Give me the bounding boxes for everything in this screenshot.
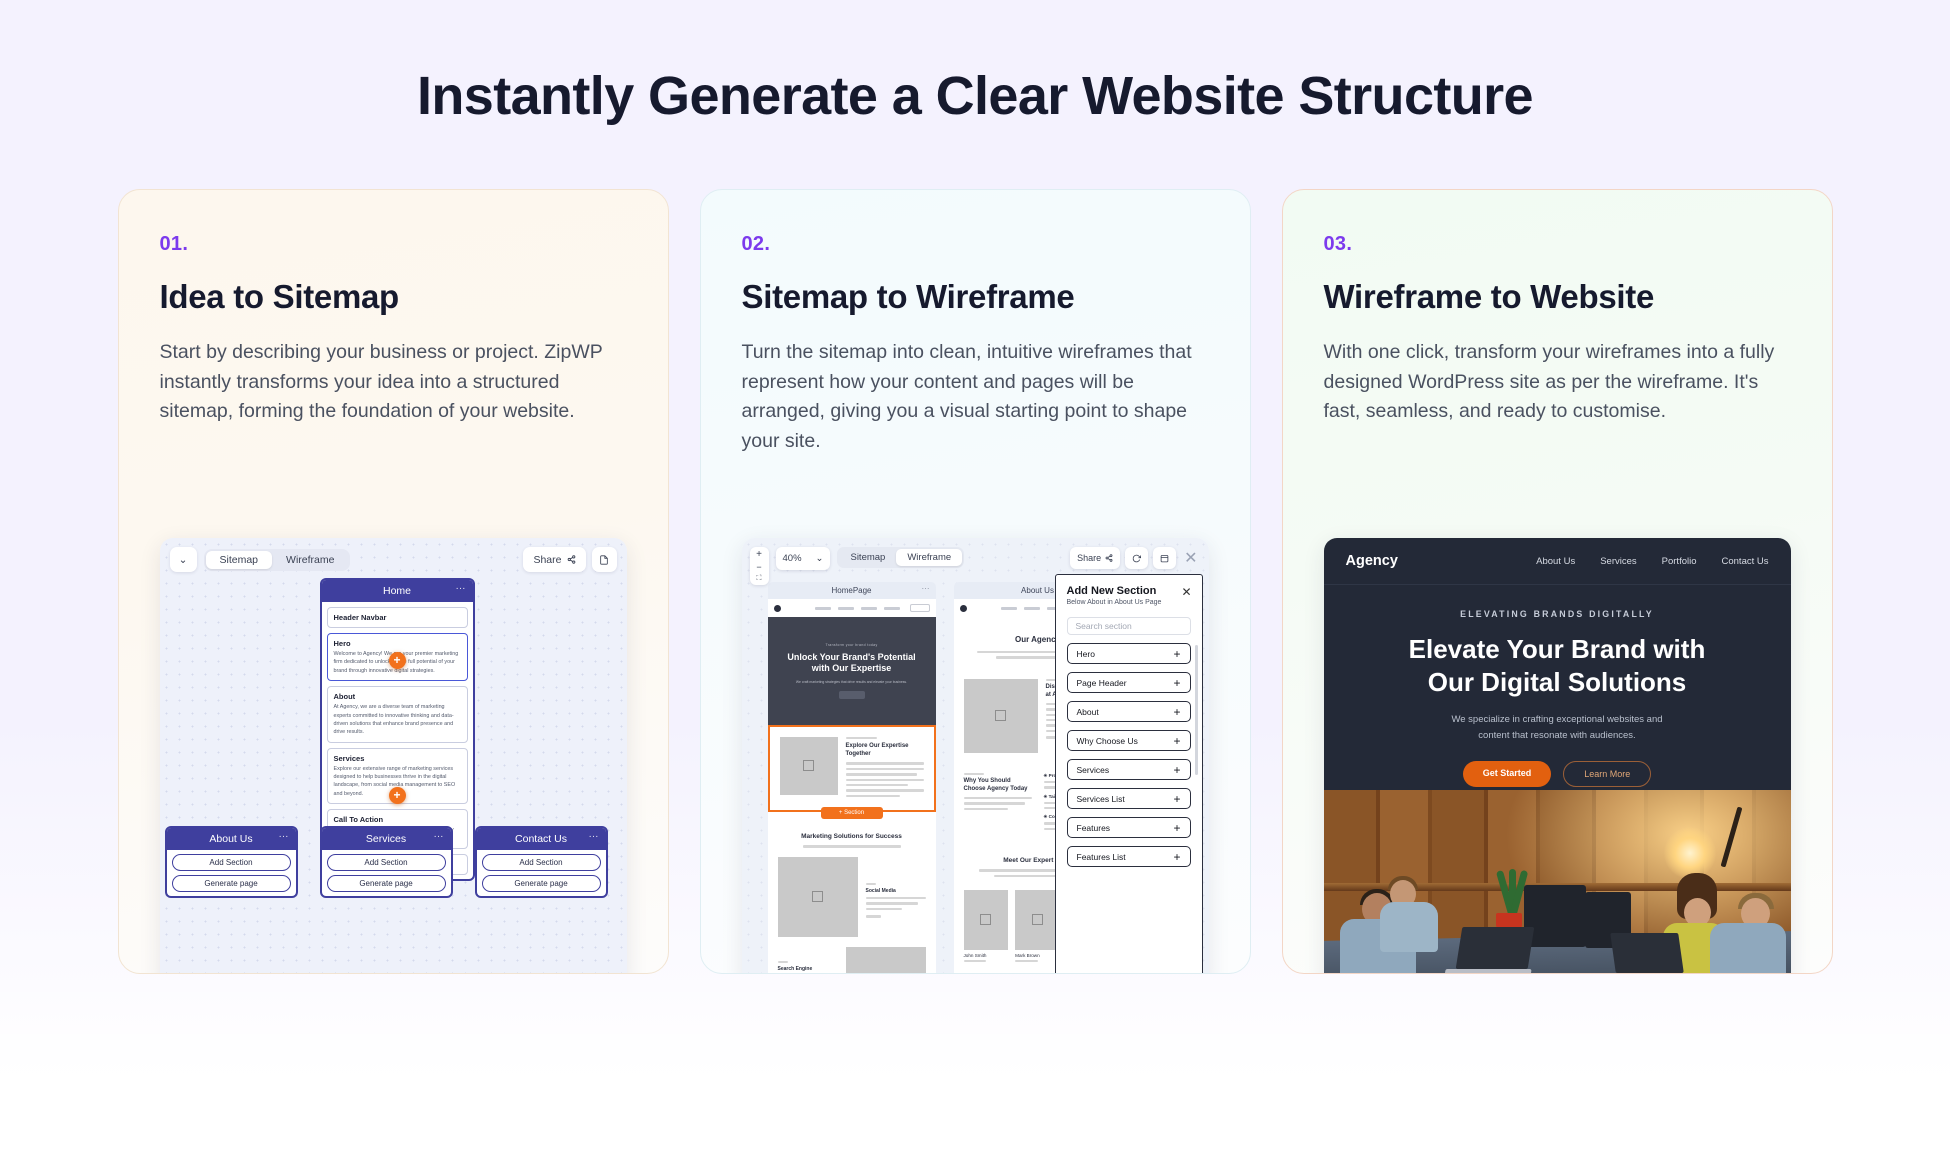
zoom-level-select[interactable]: 40% ⌄ bbox=[776, 547, 831, 570]
section-item-page-header[interactable]: Page Header+ bbox=[1067, 672, 1191, 693]
page-bottom-fade bbox=[0, 978, 1950, 1158]
save-button[interactable] bbox=[1153, 547, 1176, 569]
website-nav-links[interactable]: About Us Services Portfolio Contact Us bbox=[1536, 556, 1768, 567]
card-number: 03. bbox=[1324, 233, 1791, 256]
section-item-services[interactable]: Services+ bbox=[1067, 759, 1191, 780]
node-menu-icon[interactable]: ··· bbox=[589, 831, 599, 842]
hero-headline: Elevate Your Brand with Our Digital Solu… bbox=[1354, 633, 1761, 699]
chevron-down-icon: ⌄ bbox=[816, 553, 824, 564]
logo-icon bbox=[774, 605, 781, 612]
card-number: 01. bbox=[160, 233, 627, 256]
section-item-about[interactable]: About+ bbox=[1067, 701, 1191, 722]
generate-page-button[interactable]: Generate page bbox=[482, 875, 601, 892]
document-icon bbox=[599, 555, 609, 565]
close-icon[interactable]: ✕ bbox=[1181, 585, 1191, 599]
node-menu-icon[interactable]: ··· bbox=[279, 831, 289, 842]
plus-icon: + bbox=[1173, 677, 1180, 689]
section-item-hero[interactable]: Hero+ bbox=[1067, 643, 1191, 664]
sitemap-toolbar: ⌄ Sitemap Wireframe Share bbox=[170, 547, 617, 572]
image-placeholder-icon bbox=[780, 737, 838, 795]
hero-subtext: We specialize in crafting exceptional we… bbox=[1354, 712, 1761, 745]
export-page-button[interactable] bbox=[592, 547, 617, 572]
tab-sitemap[interactable]: Sitemap bbox=[839, 549, 896, 566]
plus-icon: + bbox=[1173, 735, 1180, 747]
share-button[interactable]: Share bbox=[523, 547, 585, 572]
image-placeholder-icon bbox=[964, 890, 1009, 950]
tab-wireframe[interactable]: Wireframe bbox=[272, 551, 348, 569]
sitemap-node-title: Home ··· bbox=[322, 580, 473, 602]
add-section-plus-icon[interactable]: + bbox=[389, 652, 406, 669]
plus-icon: + bbox=[1173, 822, 1180, 834]
share-label: Share bbox=[1077, 553, 1101, 563]
hero-photo bbox=[1324, 790, 1791, 974]
add-section-button[interactable]: Add Section bbox=[327, 854, 446, 871]
fit-screen-icon[interactable]: ⛶ bbox=[757, 575, 762, 582]
feature-card-wireframe-to-website: 03. Wireframe to Website With one click,… bbox=[1282, 189, 1833, 974]
nav-link-services[interactable]: Services bbox=[1600, 556, 1636, 567]
refresh-button[interactable] bbox=[1125, 547, 1148, 569]
zoom-controls[interactable]: + − ⛶ bbox=[750, 547, 769, 585]
card-heading: Idea to Sitemap bbox=[160, 278, 627, 316]
card-description: With one click, transform your wireframe… bbox=[1324, 338, 1779, 427]
plus-icon: + bbox=[1173, 706, 1180, 718]
share-label: Share bbox=[533, 554, 561, 566]
nav-link-contact-us[interactable]: Contact Us bbox=[1722, 556, 1769, 567]
image-placeholder-icon bbox=[1015, 890, 1060, 950]
image-placeholder-icon bbox=[846, 947, 926, 974]
nav-placeholder-links bbox=[815, 607, 900, 610]
learn-more-button[interactable]: Learn More bbox=[1563, 761, 1651, 787]
wireframe-page-homepage[interactable]: Transform your brand today Unlock Your B… bbox=[768, 599, 936, 974]
sitemap-node-about-us[interactable]: About Us ··· Add Section Generate page bbox=[165, 826, 298, 898]
plant-decoration bbox=[1492, 871, 1526, 929]
sitemap-node-services[interactable]: Services ··· Add Section Generate page bbox=[320, 826, 453, 898]
website-navbar: Agency About Us Services Portfolio Conta… bbox=[1324, 538, 1791, 585]
wireframe-selected-section[interactable]: Explore Our Expertise Together bbox=[768, 725, 936, 813]
node-menu-icon[interactable]: ··· bbox=[434, 831, 444, 842]
generate-page-button[interactable]: Generate page bbox=[172, 875, 291, 892]
nav-link-about-us[interactable]: About Us bbox=[1536, 556, 1575, 567]
image-placeholder-icon bbox=[778, 857, 858, 937]
section-item-features[interactable]: Features+ bbox=[1067, 817, 1191, 838]
zoom-level-value: 40% bbox=[783, 553, 802, 564]
sitemap-section-header-navbar[interactable]: Header Navbar bbox=[327, 607, 468, 628]
nav-link-portfolio[interactable]: Portfolio bbox=[1662, 556, 1697, 567]
zoom-out-icon[interactable]: − bbox=[756, 563, 761, 572]
plus-icon: + bbox=[1173, 793, 1180, 805]
sitemap-screenshot: ⌄ Sitemap Wireframe Share bbox=[160, 538, 627, 974]
feature-card-sitemap-to-wireframe: 02. Sitemap to Wireframe Turn the sitema… bbox=[700, 189, 1251, 974]
card-description: Turn the sitemap into clean, intuitive w… bbox=[742, 338, 1197, 457]
website-hero: ELEVATING BRANDS DIGITALLY Elevate Your … bbox=[1324, 585, 1791, 809]
card-heading: Sitemap to Wireframe bbox=[742, 278, 1209, 316]
panel-subtitle: Below About in About Us Page bbox=[1067, 599, 1191, 606]
website-screenshot: Agency About Us Services Portfolio Conta… bbox=[1324, 538, 1791, 974]
tab-sitemap[interactable]: Sitemap bbox=[206, 551, 273, 569]
sitemap-view-tabs[interactable]: Sitemap Wireframe bbox=[204, 549, 351, 571]
collapse-caret-icon[interactable]: ⌄ bbox=[170, 547, 197, 572]
wireframe-hero: Transform your brand today Unlock Your B… bbox=[768, 617, 936, 725]
share-icon bbox=[1105, 554, 1113, 562]
card-description: Start by describing your business or pro… bbox=[160, 338, 615, 427]
search-section-input[interactable]: Search section bbox=[1067, 617, 1191, 635]
search-placeholder: Search section bbox=[1076, 621, 1132, 631]
add-page-plus-icon[interactable]: + bbox=[389, 787, 406, 804]
section-item-why-choose-us[interactable]: Why Choose Us+ bbox=[1067, 730, 1191, 751]
plus-icon: + bbox=[1173, 851, 1180, 863]
card-heading: Wireframe to Website bbox=[1324, 278, 1791, 316]
generate-page-button[interactable]: Generate page bbox=[327, 875, 446, 892]
section-item-services-list[interactable]: Services List+ bbox=[1067, 788, 1191, 809]
sitemap-node-contact-us[interactable]: Contact Us ··· Add Section Generate page bbox=[475, 826, 608, 898]
add-section-button[interactable]: Add Section bbox=[482, 854, 601, 871]
zoom-in-icon[interactable]: + bbox=[756, 550, 762, 560]
sitemap-section-about[interactable]: About At Agency, we are a diverse team o… bbox=[327, 686, 468, 743]
feature-card-grid: 01. Idea to Sitemap Start by describing … bbox=[0, 189, 1950, 974]
wireframe-screenshot: + − ⛶ 40% ⌄ Sitemap Wireframe Share bbox=[742, 538, 1209, 974]
share-icon bbox=[567, 555, 576, 564]
plus-icon: + bbox=[1173, 764, 1180, 776]
nav-cta-placeholder bbox=[910, 604, 930, 612]
wireframe-navbar bbox=[768, 599, 936, 617]
section-item-features-list[interactable]: Features List+ bbox=[1067, 846, 1191, 867]
get-started-button[interactable]: Get Started bbox=[1463, 761, 1552, 787]
share-button[interactable]: Share bbox=[1070, 547, 1120, 569]
add-section-inline-button[interactable]: + Section bbox=[821, 807, 883, 819]
panel-scrollbar[interactable] bbox=[1195, 645, 1198, 775]
tab-wireframe[interactable]: Wireframe bbox=[896, 549, 962, 566]
hero-cta-placeholder bbox=[839, 691, 865, 699]
refresh-icon bbox=[1132, 554, 1141, 563]
wireframe-view-tabs[interactable]: Sitemap Wireframe bbox=[837, 547, 964, 568]
hero-kicker: ELEVATING BRANDS DIGITALLY bbox=[1354, 609, 1761, 619]
card-number: 02. bbox=[742, 233, 1209, 256]
logo-icon bbox=[960, 605, 967, 612]
add-new-section-panel: Add New Section Below About in About Us … bbox=[1055, 574, 1203, 974]
node-menu-icon[interactable]: ··· bbox=[922, 584, 930, 593]
feature-card-idea-to-sitemap: 01. Idea to Sitemap Start by describing … bbox=[118, 189, 669, 974]
add-section-button[interactable]: Add Section bbox=[172, 854, 291, 871]
plus-icon: + bbox=[1173, 648, 1180, 660]
panel-title: Add New Section bbox=[1067, 585, 1191, 597]
wireframe-column-homepage: HomePage ··· Transform your brand today … bbox=[768, 582, 936, 974]
image-placeholder-icon bbox=[964, 679, 1038, 753]
site-logo: Agency bbox=[1346, 553, 1398, 569]
page-title: Instantly Generate a Clear Website Struc… bbox=[0, 0, 1950, 127]
close-icon[interactable]: ✕ bbox=[1181, 548, 1200, 568]
save-icon bbox=[1160, 554, 1169, 563]
node-menu-icon[interactable]: ··· bbox=[456, 583, 466, 594]
